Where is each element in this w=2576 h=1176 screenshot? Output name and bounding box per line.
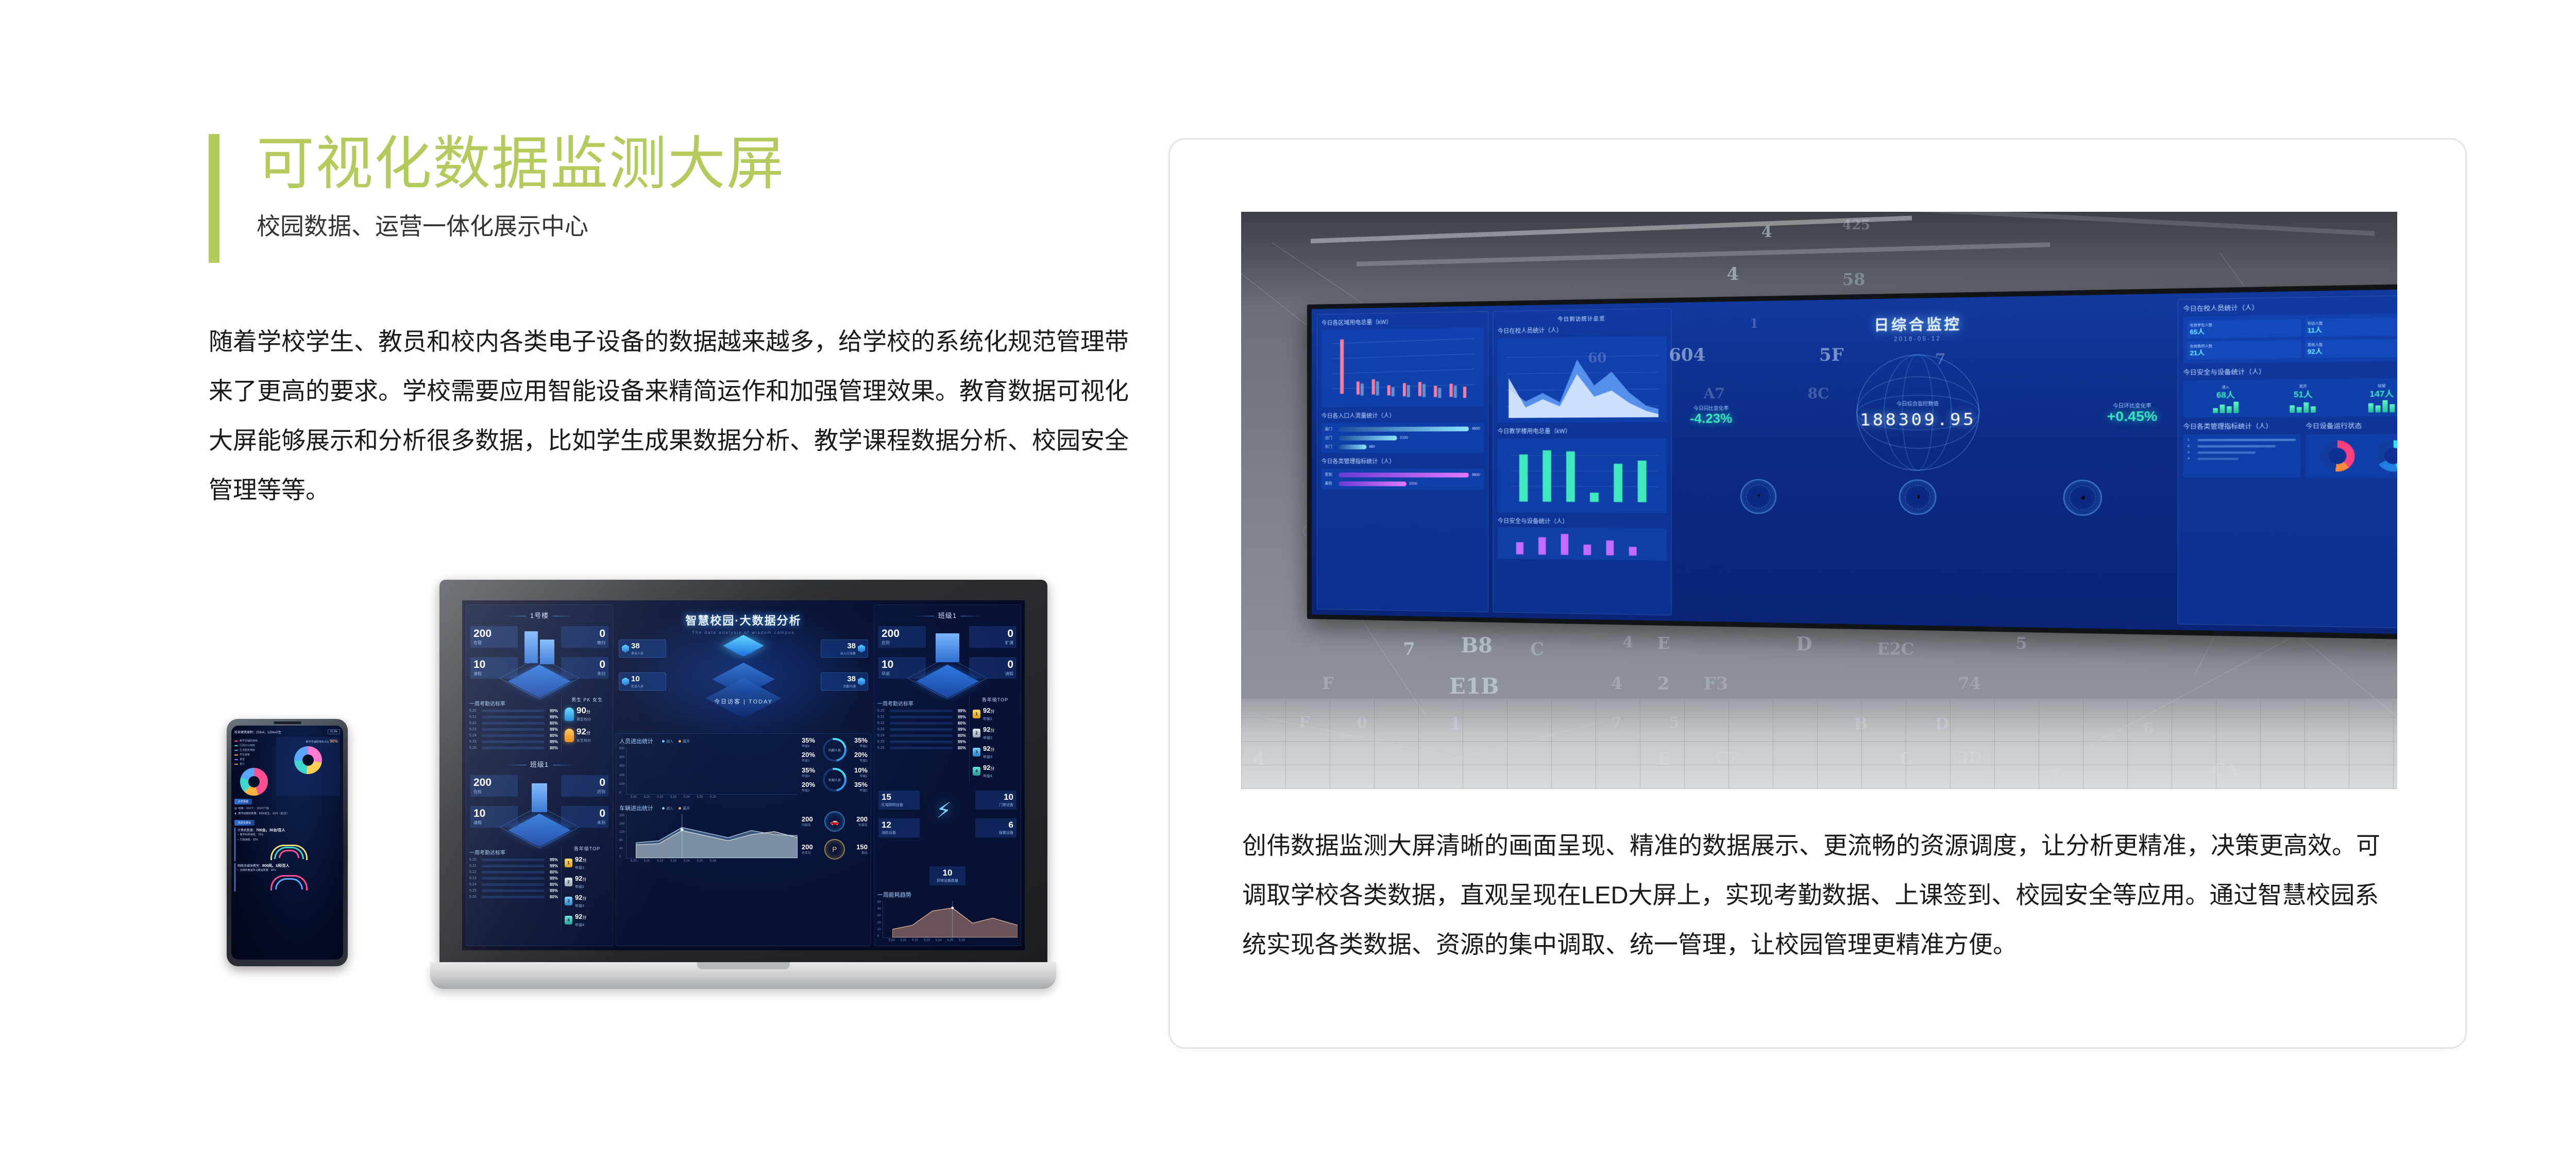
phone-header-text: 校舍建筑面积：233㎡，1234㎡/生: [234, 730, 281, 734]
led-center-column: 日综合监控 2018-05-12 今日综合监控数值 188309.95 今日同比…: [1676, 299, 2173, 625]
phone-list-item: ▤ 班级：1111个，12121个班: [234, 807, 340, 810]
globe-value: 188309.95: [1860, 410, 1976, 430]
medal-icon: 3: [565, 897, 572, 905]
phone-metric-block: 计算机数量：700台，30台/百人 • 教学科研用机：70% • 行政用机：30…: [234, 828, 340, 861]
phone-section-1-chip[interactable]: 办学规模: [234, 799, 252, 804]
dorm-panel-heading: 1号楼: [469, 610, 609, 620]
dial-gauge-1: ◔: [1740, 479, 1776, 514]
class-kpi-grid: 200应到 0旷课 10早退 0请假: [877, 623, 1018, 696]
led-purple-bar-box: [1498, 527, 1667, 561]
doc-icon: ▤: [234, 807, 237, 810]
mini-stat: 到访人数11人: [2305, 317, 2397, 337]
legend-item: 其它: [234, 762, 274, 766]
rank-row: 292分年级2: [973, 725, 1018, 741]
legend-item: 食堂: [234, 758, 274, 761]
bar-row: 5.2280%: [877, 721, 966, 726]
vehicle-chart-legend: 进入 离开: [662, 806, 690, 811]
led-panel-title: 今日各类管理指标统计（人）: [1321, 457, 1484, 465]
bar-row: 5.2399%: [469, 727, 558, 732]
rank-row: 192分年级1: [565, 855, 609, 870]
laptop-trackpad-notch: [697, 962, 790, 969]
device-stat: 12消防设备: [878, 818, 920, 837]
phone-donut-chart-2: [294, 746, 322, 774]
kpi-card: 0晚归: [561, 626, 608, 648]
phone-metric-block: 网络多媒体教室：800间，1间/百人 • 多媒体教室所占教室数量：30%: [234, 863, 340, 892]
medal-icon: 2: [973, 729, 980, 737]
vehicle-chart-x-axis: 5.205.21 5.225.23 5.245.25 5.26: [619, 860, 798, 863]
bar-row: 5.2599%: [877, 740, 966, 744]
medal-icon: 4: [565, 916, 572, 925]
legend-item: 学生宿舍: [234, 753, 274, 757]
led-bar-chart-box: [1321, 328, 1484, 408]
kpi-card: 0旷课: [969, 626, 1016, 648]
medal-icon: 3: [973, 748, 980, 757]
mini-stat: 离校人数92人: [2305, 339, 2397, 358]
pk-female-row: 92分女生均分: [565, 727, 609, 743]
card-caption: 创伟数据监测大屏清晰的画面呈现、精准的数据展示、更流畅的资源调度，让分析更精准，…: [1242, 821, 2399, 969]
led-panel-title: 今日教学楼用电总量（kW）: [1498, 426, 1667, 435]
device-status-panel: 15区域照明设备 10门禁设备 12消防设备 6报警设备 10异常设备数量: [877, 788, 1018, 886]
parking-icon: P: [824, 839, 845, 860]
mini-stat: 在校教师人数21人: [2188, 340, 2301, 359]
led-green-bar-box: [1498, 438, 1667, 513]
laptop-lid: 1号楼 200在寝 0晚归 10请假: [439, 580, 1047, 964]
energy-area-chart: [883, 901, 1018, 938]
kpi-card: 200应到: [878, 626, 926, 648]
led-panel-title: 今日安全与设备统计（人）: [1498, 516, 1667, 526]
led-room-photo: 今日各区域用电总量（kW）: [1241, 212, 2397, 789]
phone-sub-item: • 多媒体教室所占教室数量：30%: [238, 868, 340, 872]
globe-icon: 今日综合监控数值 188309.95: [1857, 354, 1979, 471]
kpi-card: 0迟到: [561, 775, 608, 797]
visitor-stat: 38后勤沟通: [821, 673, 868, 691]
dial-gauge-2: ◑: [1899, 479, 1937, 515]
vehicle-area-chart: [626, 814, 798, 859]
phone-mockup: 校舍建筑面积：233㎡，1234㎡/生 21.3% 教学及辅助用房 行政办公用房…: [227, 719, 348, 966]
phone-section-2-chip[interactable]: 信息化建设: [234, 820, 255, 826]
legend-item: 教学及辅助用房: [234, 739, 274, 743]
intro-paragraph: 随着学校学生、教员和校内各类电子设备的数据越来越多，给学校的系统化规范管理带来了…: [209, 317, 1136, 515]
phone-swirl-chart-2: [269, 874, 309, 892]
right-pct-block: 今日环比变化率 +0.45%: [2107, 402, 2158, 426]
phone-screen: 校舍建筑面积：233㎡，1234㎡/生 21.3% 教学及辅助用房 行政办公用房…: [231, 726, 343, 960]
bar-row: 5.2099%: [877, 709, 966, 713]
bar-row: 5.2199%: [877, 715, 966, 719]
green-stat: 进入 68人: [2213, 384, 2239, 413]
kpi-card: 10早退: [878, 657, 926, 679]
status-ring-cyan: [2376, 440, 2397, 472]
device-stat: 10异常设备数量: [929, 866, 965, 885]
legend-item: 行政办公用房: [234, 744, 274, 747]
phone-list-item: ♟ 教学班额的数量：9000名生，1221（名/生）: [234, 812, 340, 815]
kpi-card: 10请假: [470, 657, 518, 679]
medal-icon: 1: [565, 859, 572, 867]
medal-icon: 2: [565, 878, 572, 886]
vehicle-chart-title: 车辆进出统计 进入 离开: [619, 804, 798, 812]
device-mockup-group: 校舍建筑面积：233㎡，1234㎡/生 21.3% 教学及辅助用房 行政办公用房…: [227, 580, 1133, 1054]
dorm-kpi-grid: 200在寝 0晚归 10请假 0未归: [469, 623, 609, 696]
gateway-kpi-grid: 200在校 0迟到 10请假 0未到: [469, 772, 609, 845]
dial-gauge-3: ◕: [2063, 480, 2102, 516]
person-hex-icon: [622, 645, 629, 653]
class-panel-heading: 班级1: [877, 610, 1018, 620]
led-green-stats-box: 进入 68人 离开 51人 驻留: [2183, 378, 2397, 417]
page-root: 可视化数据监测大屏 校园数据、运营一体化展示中心 随着学校学生、教员和校内各类电…: [0, 0, 2576, 1176]
led-content: 今日各区域用电总量（kW）: [1312, 289, 2397, 634]
kpi-card: 0未到: [561, 806, 608, 828]
phone-header-row: 校舍建筑面积：233㎡，1234㎡/生 21.3%: [234, 729, 340, 734]
led-panel-title: 今日在校人员统计（人）: [1498, 324, 1667, 335]
female-figure-icon: [565, 729, 574, 742]
bar-row: 5.2399%: [877, 727, 966, 732]
led-progress-box-2: 签到 9800 离校 3200: [1321, 468, 1484, 490]
phone-speaker: [274, 721, 301, 724]
status-ring-pink: [2320, 440, 2355, 472]
led-panel-column-1: 今日各区域用电总量（kW）: [1317, 311, 1488, 612]
gateway-bars-title: 一周考勤达标率: [469, 848, 558, 856]
pk-title: 男生 PK 女生: [565, 696, 609, 703]
laptop-screen: 1号楼 200在寝 0晚归 10请假: [462, 600, 1025, 950]
bar-row: 5.2199%: [469, 715, 558, 719]
led-panel-title: 今日在校人员统计（人）: [2183, 300, 2397, 313]
kpi-card: 10请假: [470, 806, 518, 828]
title-accent-bar: [209, 134, 219, 263]
rank-row: 392分年级3: [565, 893, 609, 909]
showcase-card: 今日各区域用电总量（kW）: [1168, 138, 2467, 1049]
green-stat: 离开 51人: [2290, 383, 2316, 413]
gateway-top-title: 各年级TOP: [565, 845, 609, 852]
medal-icon: 4: [973, 767, 980, 776]
people-chart-legend: 进入 离开: [662, 739, 690, 744]
rank-row: 492分年级4: [565, 912, 609, 928]
bar-row: 5.2099%: [469, 858, 558, 862]
led-video-wall: 今日各区域用电总量（kW）: [1307, 283, 2397, 640]
rank-row: 392分年级3: [973, 744, 1018, 760]
led-ring-box: [2306, 434, 2397, 478]
internal-people-gauge: 内部人员: [823, 738, 846, 762]
led-progress-box: 南门 4500 北门 2100 东门: [1321, 422, 1484, 453]
medal-icon: 1: [973, 710, 980, 718]
device-hex-icon: [858, 645, 865, 653]
dash-left-column: 1号楼 200在寝 0晚归 10请假: [466, 604, 613, 946]
external-people-gauge: 外部人员: [823, 768, 846, 792]
people-chart-title: 人员进出统计 进入 离开: [619, 737, 798, 745]
visitor-stat: 10在访人员: [619, 673, 666, 691]
mini-stat: 在校学生人数65人: [2188, 319, 2301, 339]
pk-male-row: 90分男生均分: [565, 706, 609, 722]
title-block: 可视化数据监测大屏 校园数据、运营一体化展示中心: [209, 131, 1141, 242]
kpi-card: 0未归: [561, 657, 608, 679]
dorm-bars-title: 一周考勤达标率: [469, 699, 558, 707]
dash-right-column: 班级1 200应到 0旷课 10早退 0请假: [874, 604, 1021, 946]
male-figure-icon: [565, 708, 574, 721]
service-hex-icon: [858, 678, 865, 686]
phone-donut-note: 教学及辅助用房占比 90%: [278, 739, 338, 744]
energy-chart-x-axis: 5.205.21 5.225.23 5.245.25 5.26: [877, 939, 1018, 942]
bar-row: 5.2480%: [469, 882, 558, 887]
car-icon: 🚗: [824, 811, 845, 832]
device-stat: 15区域照明设备: [878, 791, 920, 810]
traffic-panels: 人员进出统计 进入 离开 500: [616, 733, 871, 946]
led-panel-title: 今日设备运行状态: [2306, 421, 2397, 431]
person-hex-icon: [622, 678, 629, 686]
bar-row: 5.2199%: [469, 864, 558, 868]
dash-middle-column: 智慧校园·大数据分析 The data analysis of wisdom c…: [616, 604, 871, 946]
people-chart-x-axis: 5.205.21 5.225.23 5.245.25 5.26: [619, 796, 798, 799]
legend-item: 生活服务用房: [234, 748, 274, 752]
phone-header-tag: 21.3%: [328, 729, 340, 734]
device-stat: 10门禁设备: [975, 791, 1016, 810]
bar-row: 5.2680%: [469, 895, 558, 899]
photo-floor: [1241, 699, 2397, 789]
people-icon: ♟: [234, 812, 236, 815]
rank-row: 292分年级2: [565, 874, 609, 889]
led-area-chart-box: [1498, 336, 1667, 423]
cube-label: 今日访客 | TODAY: [714, 697, 773, 705]
led-panel-title: 今日各区域用电总量（kW）: [1321, 316, 1484, 327]
rank-row: 492分年级4: [973, 763, 1018, 779]
kpi-card: 0请假: [969, 657, 1016, 679]
led-panel-title: 今日安全与设备统计（人）: [2183, 365, 2397, 377]
today-visitor-cube-icon: 今日访客 | TODAY: [713, 631, 774, 709]
laptop-dashboard: 1号楼 200在寝 0晚归 10请假: [462, 600, 1025, 950]
bar-row: 5.2099%: [469, 709, 558, 713]
dashboard-title-cn: 智慧校园·大数据分析: [616, 612, 871, 628]
kpi-card: 200在校: [470, 775, 518, 797]
left-content-column: 可视化数据监测大屏 校园数据、运营一体化展示中心 随着学校学生、教员和校内各类电…: [209, 131, 1141, 515]
led-column2-heading: 今日到访统计总览: [1498, 313, 1667, 324]
energy-chart-title: 一周能耗趋势: [877, 891, 1018, 899]
led-panel-title: 今日各类管理指标统计（人）: [2183, 422, 2300, 431]
hero-panel: 智慧校园·大数据分析 The data analysis of wisdom c…: [616, 604, 871, 731]
phone-legend: 教学及辅助用房 行政办公用房 生活服务用房 学生宿舍 食堂 其它: [234, 739, 274, 766]
phone-swirl-chart-1: [269, 844, 309, 861]
visitor-stat: 38来访人员: [619, 640, 666, 658]
bar-row: 5.2680%: [469, 746, 558, 750]
left-pct-block: 今日同比变化率 -4.23%: [1690, 405, 1732, 427]
bar-row: 5.2480%: [877, 733, 966, 738]
bar-row: 5.2480%: [469, 733, 558, 738]
kpi-card: 200在寝: [470, 626, 518, 648]
gateway-panel-heading: 班级1: [469, 759, 609, 769]
phone-donut-chart-1: [240, 768, 268, 796]
bar-row: 5.2680%: [877, 746, 966, 750]
led-panel-column-2: 今日到访统计总览 今日在校人员统计（人）: [1493, 308, 1671, 616]
led-list-box: 1 2 3 4: [2183, 434, 2300, 478]
visitor-stat: 38出入口设备: [821, 640, 868, 658]
people-bar-chart: [626, 747, 798, 795]
phone-body: 校舍建筑面积：233㎡，1234㎡/生 21.3% 教学及辅助用房 行政办公用房…: [227, 719, 348, 966]
globe-label: 今日综合监控数值: [1896, 399, 1939, 407]
phone-sub-item: • 行政用机：30%: [238, 838, 340, 842]
laptop-mockup: 1号楼 200在寝 0晚归 10请假: [430, 580, 1056, 997]
green-stat: 驻留 147人: [2368, 383, 2395, 413]
bar-row: 5.2399%: [469, 876, 558, 881]
led-main-title: 日综合监控: [1681, 304, 2167, 338]
phone-sub-item: • 教学科研用机：70%: [238, 833, 340, 836]
rank-row: 192分年级1: [973, 706, 1018, 721]
bar-row: 5.2599%: [469, 888, 558, 893]
led-panel-title: 今日各入口人流量统计（人）: [1321, 411, 1484, 420]
page-subtitle: 校园数据、运营一体化展示中心: [257, 211, 1141, 242]
phone-dashboard: 校舍建筑面积：233㎡，1234㎡/生 21.3% 教学及辅助用房 行政办公用房…: [231, 726, 343, 960]
led-mini-stats-box: 在校学生人数65人 到访人数11人 在校教师人数21人 离校人数92人: [2183, 313, 2397, 363]
page-title: 可视化数据监测大屏: [257, 131, 1141, 196]
led-panel-column-4: 今日在校人员统计（人） 在校学生人数65人 到访人数11人 在校教师人数21人 …: [2178, 295, 2397, 629]
dashboard-title-block: 智慧校园·大数据分析 The data analysis of wisdom c…: [616, 604, 871, 635]
class-top-title: 各年级TOP: [973, 696, 1018, 703]
class-bars-title: 一周考勤达标率: [877, 699, 966, 707]
bar-row: 5.2599%: [469, 740, 558, 744]
device-stat: 6报警设备: [975, 818, 1016, 837]
bar-row: 5.2280%: [469, 721, 558, 726]
bar-row: 5.2280%: [469, 870, 558, 875]
